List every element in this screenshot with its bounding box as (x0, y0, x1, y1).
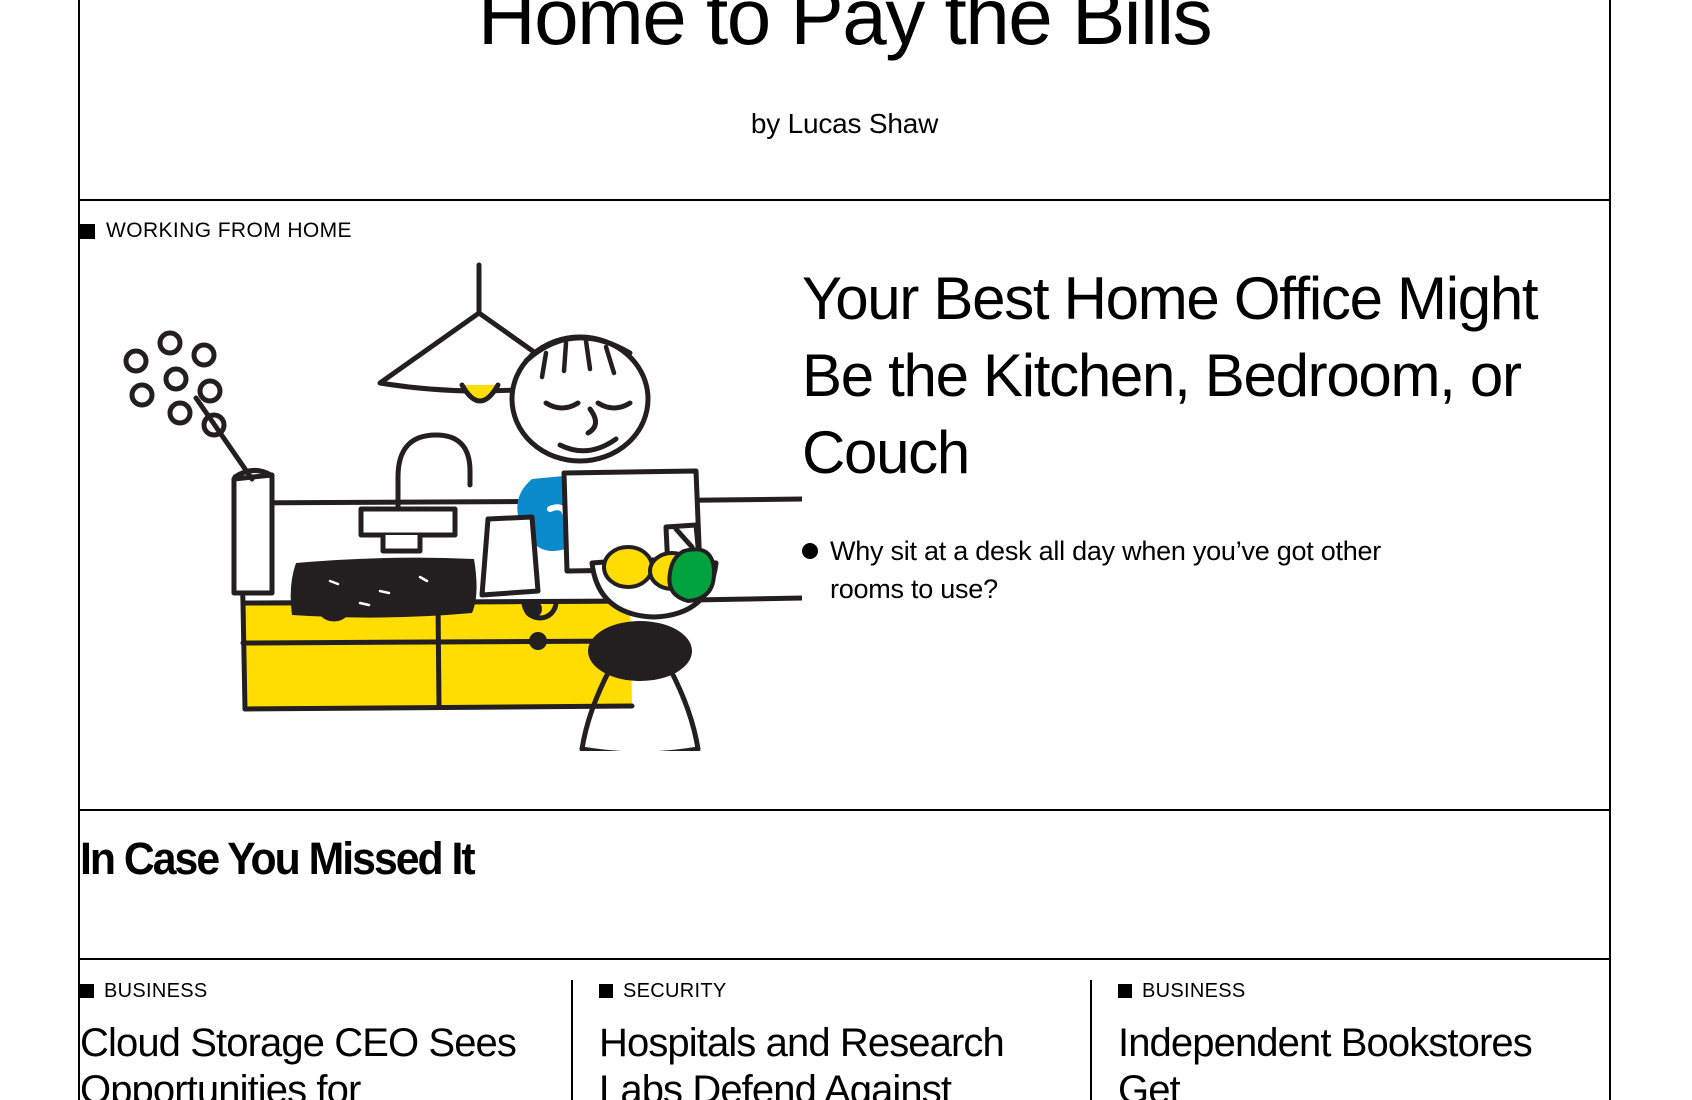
square-bullet-icon (1118, 984, 1132, 998)
lead-summary: Why sit at a desk all day when you’ve go… (802, 532, 1416, 609)
lead-story: Your Best Home Office Might Be the Kitch… (80, 251, 1609, 751)
icymi-columns-rule (80, 958, 1609, 960)
page-content: Home to Pay the Bills by Lucas Shaw WORK… (80, 0, 1609, 1100)
icymi-story-3-kicker[interactable]: BUSINESS (1118, 980, 1573, 1003)
lead-summary-text: Why sit at a desk all day when you’ve go… (830, 532, 1416, 609)
lead-kicker-label: WORKING FROM HOME (106, 219, 352, 243)
icymi-story-2-headline[interactable]: Hospitals and Research Labs Defend Again… (599, 1020, 1054, 1100)
icymi-story-3-kicker-label: BUSINESS (1142, 980, 1246, 1003)
lead-top-rule (80, 199, 1609, 201)
icymi-story-2-kicker-label: SECURITY (623, 980, 727, 1003)
masthead: Home to Pay the Bills by Lucas Shaw (80, 0, 1609, 140)
masthead-title: Home to Pay the Bills (120, 0, 1569, 56)
icymi-story-1-headline[interactable]: Cloud Storage CEO Sees Opportunities for (80, 1020, 535, 1100)
icymi-story-1[interactable]: BUSINESS Cloud Storage CEO Sees Opportun… (80, 980, 571, 1100)
icymi-top-rule (80, 809, 1609, 811)
icymi-story-1-kicker[interactable]: BUSINESS (80, 980, 535, 1003)
masthead-byline: by Lucas Shaw (120, 108, 1569, 140)
icymi-section-title: In Case You Missed It (80, 833, 1533, 885)
square-bullet-icon (599, 984, 613, 998)
round-bullet-icon (802, 543, 818, 559)
lead-kicker[interactable]: WORKING FROM HOME (80, 219, 1609, 243)
icymi-story-columns: BUSINESS Cloud Storage CEO Sees Opportun… (80, 980, 1609, 1100)
square-bullet-icon (80, 224, 95, 239)
lead-headline[interactable]: Your Best Home Office Might Be the Kitch… (802, 261, 1609, 491)
icymi-story-2-kicker[interactable]: SECURITY (599, 980, 1054, 1003)
lead-text-block: Your Best Home Office Might Be the Kitch… (802, 251, 1609, 751)
icymi-story-3-headline[interactable]: Independent Bookstores Get (1118, 1020, 1573, 1100)
kitchen-home-office-illustration (80, 251, 802, 751)
square-bullet-icon (80, 984, 94, 998)
icymi-story-1-kicker-label: BUSINESS (104, 980, 208, 1003)
icymi-story-3[interactable]: BUSINESS Independent Bookstores Get (1090, 980, 1609, 1100)
page-frame-right-rule (1609, 0, 1611, 1100)
icymi-story-2[interactable]: SECURITY Hospitals and Research Labs Def… (571, 980, 1090, 1100)
newsletter-page: Home to Pay the Bills by Lucas Shaw WORK… (0, 0, 1692, 1100)
